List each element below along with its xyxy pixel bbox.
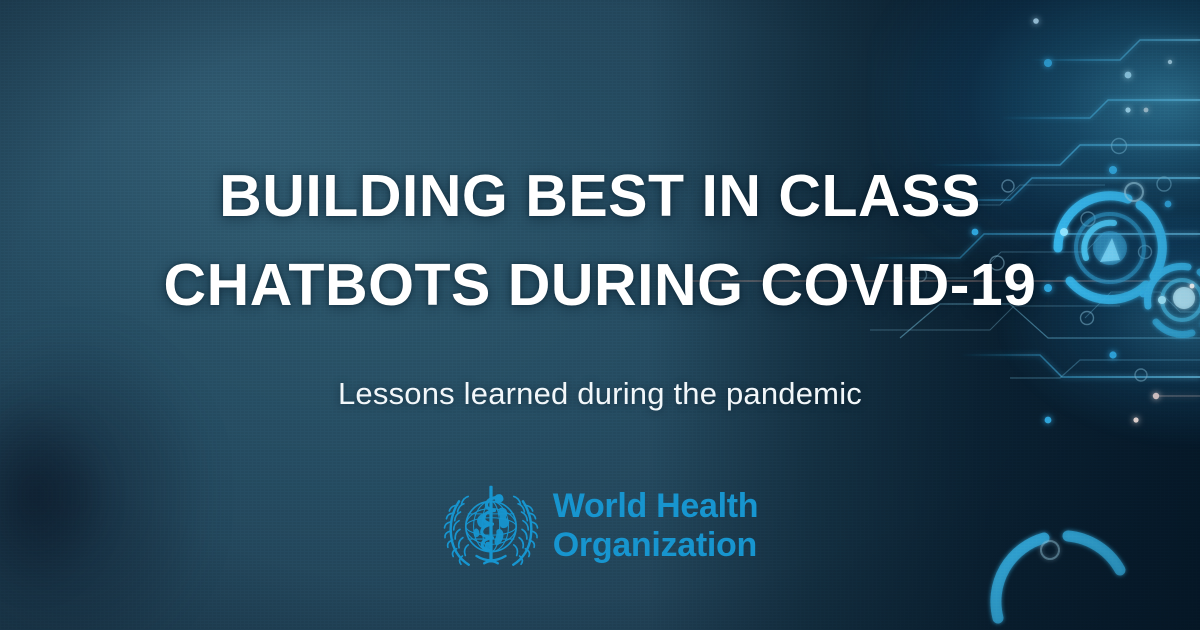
who-wordmark-line-2: Organization	[553, 528, 758, 562]
who-emblem-icon	[442, 480, 540, 572]
slide-title-line-2: CHATBOTS DURING COVID-19	[163, 241, 1036, 330]
slide-title-line-1: BUILDING BEST IN CLASS	[163, 152, 1036, 241]
presentation-title-slide: BUILDING BEST IN CLASS CHATBOTS DURING C…	[0, 0, 1200, 630]
who-wordmark: World Health Organization	[553, 489, 758, 564]
who-wordmark-line-1: World Health	[553, 489, 758, 523]
slide-subtitle: Lessons learned during the pandemic	[338, 376, 862, 412]
who-logo: World Health Organization	[0, 480, 1200, 572]
slide-title: BUILDING BEST IN CLASS CHATBOTS DURING C…	[163, 152, 1036, 330]
